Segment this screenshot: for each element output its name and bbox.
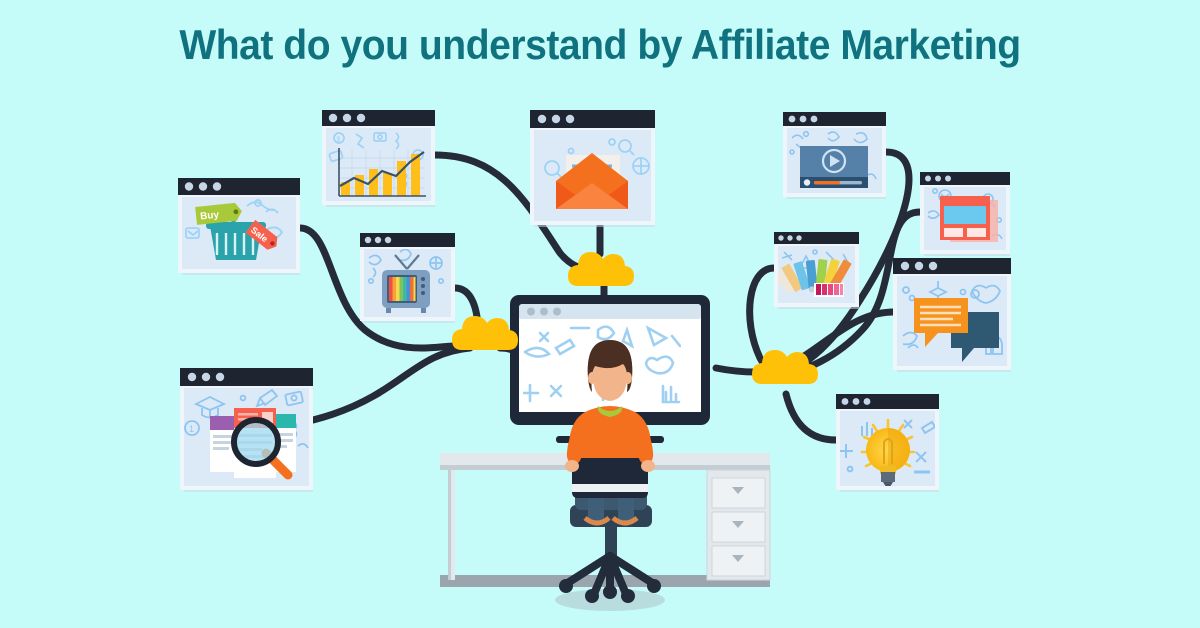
cloud-node-top[interactable] — [568, 252, 634, 286]
window-social-media[interactable] — [893, 258, 1011, 372]
cloud-node-left[interactable] — [452, 316, 518, 350]
window-dots-icon — [778, 235, 801, 240]
window-video-marketing[interactable] — [783, 112, 886, 199]
window-dots-icon — [365, 237, 391, 243]
window-ideas[interactable] — [836, 394, 939, 492]
window-dots-icon — [925, 176, 951, 182]
window-analytics[interactable]: $ $ — [322, 110, 435, 207]
window-display-ads[interactable] — [920, 172, 1010, 256]
window-design[interactable] — [769, 232, 859, 309]
window-dots-icon — [901, 262, 937, 270]
desk-drawers — [707, 470, 770, 580]
video-player — [800, 146, 868, 188]
window-dots-icon — [538, 115, 574, 123]
buy-tag-label: Buy — [200, 210, 220, 223]
window-tv-advertising[interactable] — [360, 233, 455, 323]
window-ecommerce[interactable]: Buy Sale — [178, 178, 300, 275]
window-dots-icon — [185, 182, 221, 190]
svg-text:1: 1 — [189, 424, 194, 434]
window-dots-icon — [789, 116, 818, 123]
color-swatch-strip — [814, 283, 844, 297]
window-dots-icon — [188, 373, 224, 381]
illustration-canvas: What do you understand by Affiliate Mark… — [0, 0, 1200, 628]
window-dots-icon — [329, 114, 365, 122]
ad-banner — [940, 196, 990, 240]
color-bars — [389, 277, 416, 301]
window-dots-icon — [842, 398, 871, 405]
window-seo-search[interactable]: 1 — [180, 368, 313, 492]
window-email-marketing[interactable] — [530, 110, 655, 227]
affiliate-marketing-diagram: Buy Sale $ — [0, 0, 1200, 628]
svg-text:$: $ — [337, 137, 341, 144]
screen-window-dots-icon — [527, 308, 561, 316]
